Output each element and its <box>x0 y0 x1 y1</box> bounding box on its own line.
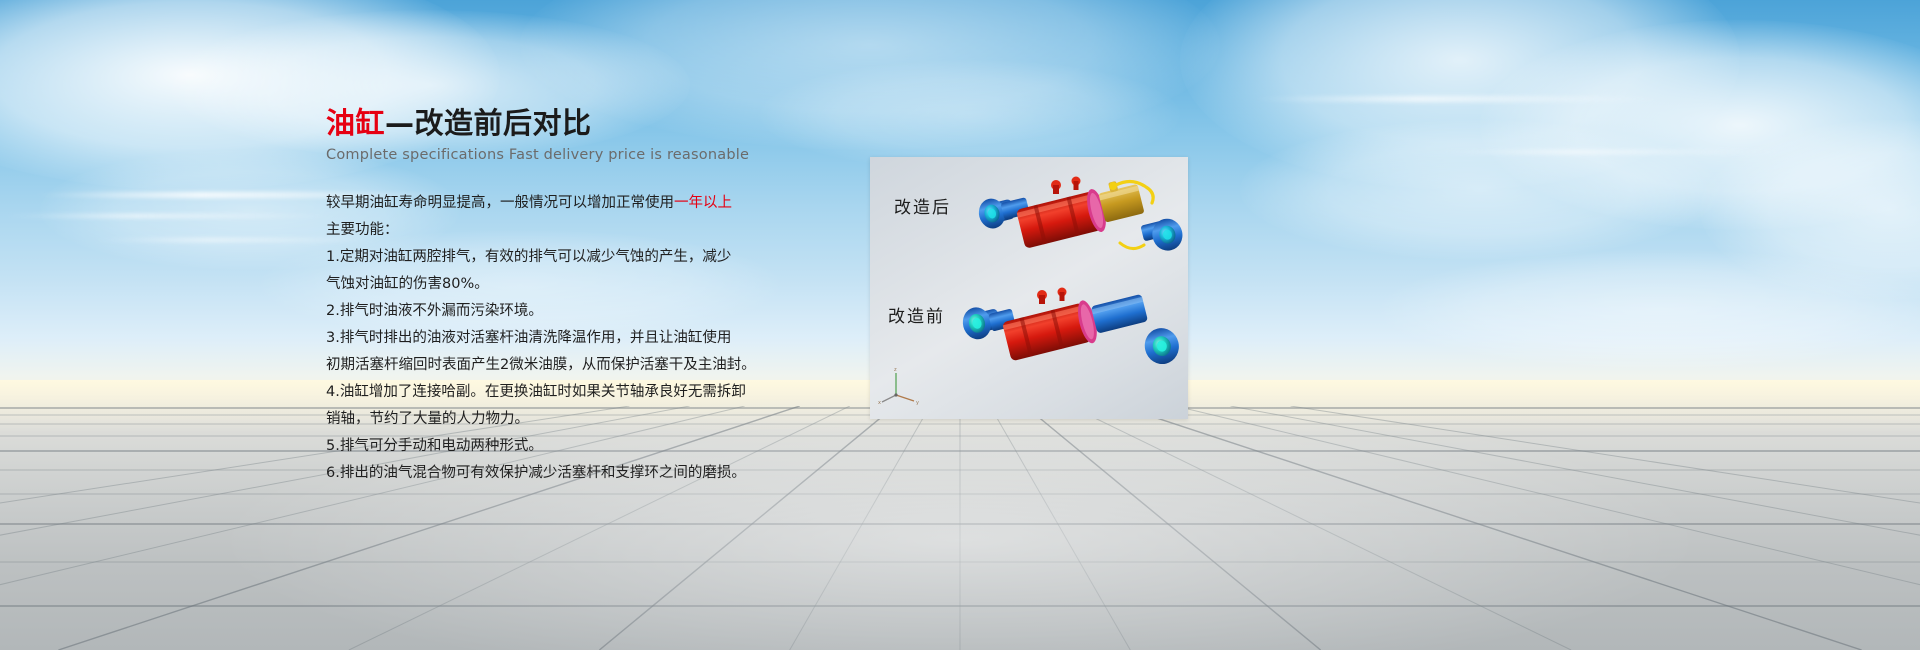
feature-line: 较早期油缸寿命明显提高，一般情况可以增加正常使用一年以上 <box>326 190 846 217</box>
label-before-modification: 改造前 <box>888 302 945 327</box>
page-title: 油缸—改造前后对比 <box>326 106 846 141</box>
page-subtitle: Complete specifications Fast delivery pr… <box>326 147 846 163</box>
feature-line: 主要功能： <box>326 217 846 244</box>
pavement-grid <box>0 406 1920 650</box>
cloud-decoration <box>1180 0 1740 190</box>
feature-text: 较早期油缸寿命明显提高，一般情况可以增加正常使用一年以上 主要功能： 1.定期对… <box>326 190 846 487</box>
cloud-decoration <box>1380 250 1920 370</box>
page-title-rest: —改造前后对比 <box>385 106 592 140</box>
feature-line: 初期活塞杆缩回时表面产生2微米油膜，从而保护活塞干及主油封。 <box>326 352 846 379</box>
svg-text:z: z <box>894 367 897 373</box>
feature-line: 4.油缸增加了连接哈副。在更换油缸时如果关节轴承良好无需拆卸 <box>326 379 846 406</box>
cloud-decoration <box>1700 120 1920 300</box>
feature-line: 1.定期对油缸两腔排气，有效的排气可以减少气蚀的产生，减少 <box>326 244 846 271</box>
cloud-streak <box>1430 150 1790 154</box>
feature-line: 6.排出的油气混合物可有效保护减少活塞杆和支撑环之间的磨损。 <box>326 460 846 487</box>
svg-text:y: y <box>916 400 919 405</box>
feature-line-highlight: 一年以上 <box>674 195 732 211</box>
ground-pavement <box>0 380 1920 650</box>
promo-banner: 油缸—改造前后对比 Complete specifications Fast d… <box>0 0 1920 650</box>
cloud-decoration <box>1480 20 1920 230</box>
feature-line: 3.排气时排出的油液对活塞杆油清洗降温作用，并且让油缸使用 <box>326 325 846 352</box>
feature-line-text: 较早期油缸寿命明显提高，一般情况可以增加正常使用 <box>326 195 674 211</box>
feature-line: 气蚀对油缸的伤害80%。 <box>326 271 846 298</box>
feature-line: 销轴，节约了大量的人力物力。 <box>326 406 846 433</box>
axis-triad-icon: x z y <box>878 365 924 405</box>
label-after-modification: 改造后 <box>894 193 951 218</box>
feature-line: 2.排气时油液不外漏而污染环境。 <box>326 298 846 325</box>
cylinder-before-modification-illustration <box>958 283 1184 395</box>
cylinder-after-modification-illustration <box>970 171 1184 283</box>
svg-text:x: x <box>878 400 881 405</box>
feature-line: 5.排气可分手动和电动两种形式。 <box>326 433 846 460</box>
product-image-panel: 改造后 改造前 x z y <box>870 157 1188 419</box>
copy-block: 油缸—改造前后对比 Complete specifications Fast d… <box>326 106 846 487</box>
cloud-decoration <box>1240 120 1720 260</box>
cloud-streak <box>1250 96 1670 102</box>
page-title-highlight: 油缸 <box>326 106 385 140</box>
cloud-streak <box>0 214 340 218</box>
